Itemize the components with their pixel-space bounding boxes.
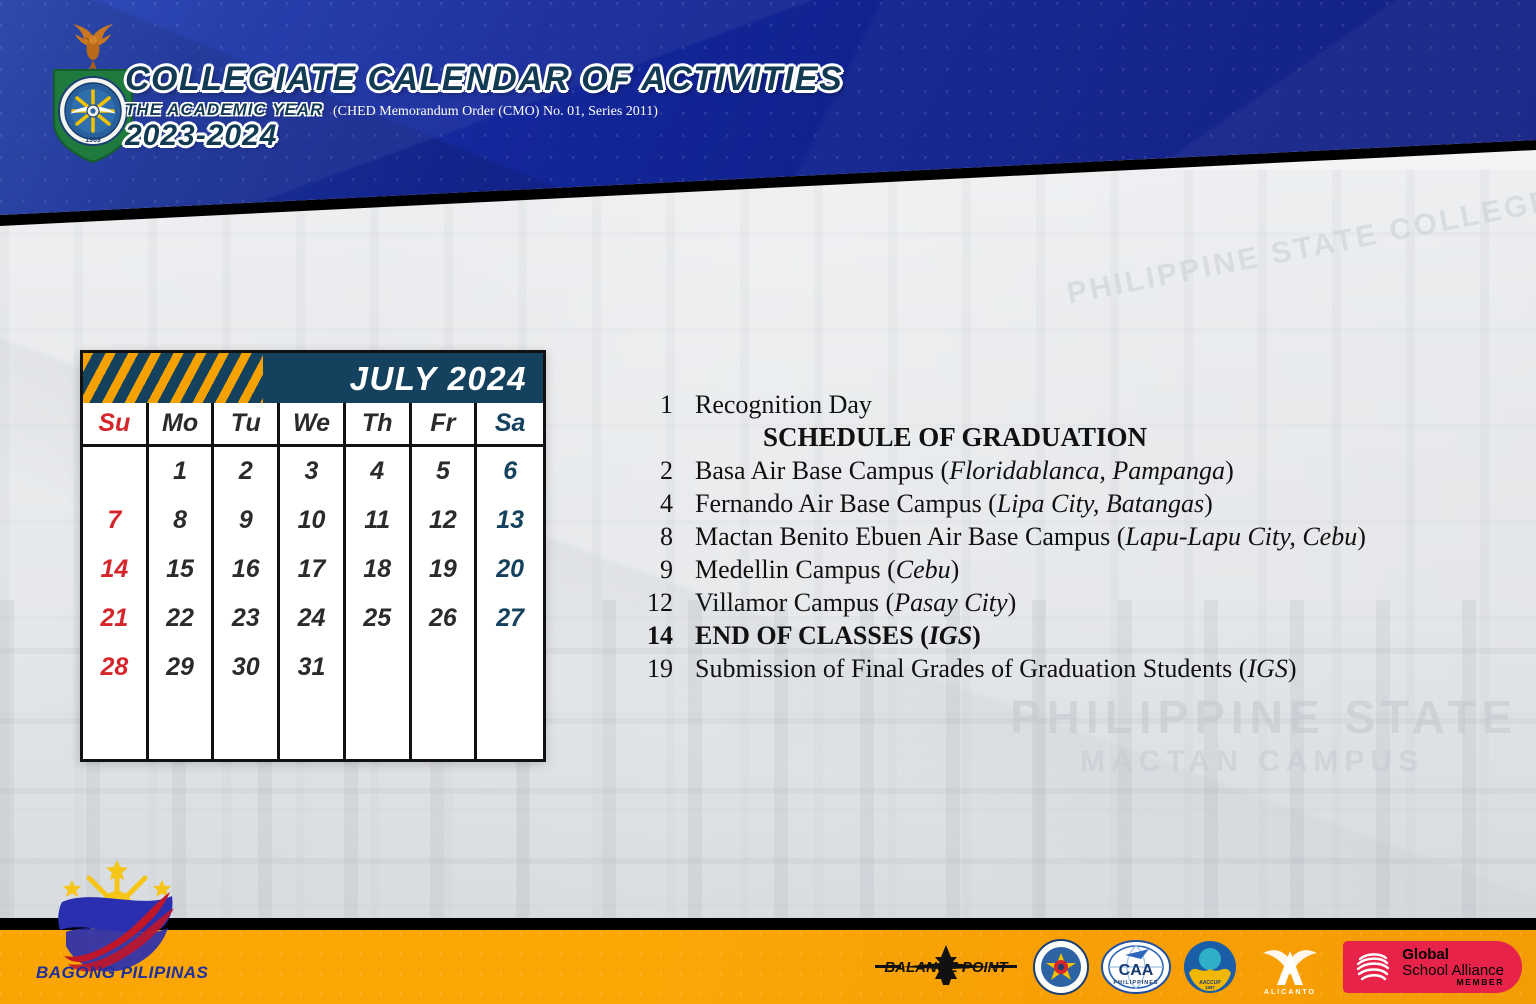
day-header-sa: Sa: [477, 403, 543, 447]
psca-seal-logo[interactable]: [1033, 939, 1089, 995]
event-text: Recognition Day: [695, 388, 1495, 421]
date-cell[interactable]: 31: [280, 643, 343, 692]
date-cell[interactable]: [477, 643, 543, 692]
date-cell[interactable]: 3: [280, 447, 343, 496]
balance-point-logo[interactable]: BALANCE POINT: [871, 939, 1021, 995]
date-cell[interactable]: 24: [280, 594, 343, 643]
caa-philippines-logo[interactable]: CAA PHILIPPINES: [1101, 939, 1171, 995]
aaccup-logo[interactable]: AACCUP 1987: [1183, 939, 1237, 995]
event-row: 9 Medellin Campus (Cebu): [575, 553, 1495, 586]
svg-text:1987: 1987: [1205, 985, 1215, 990]
watermark-college: PHILIPPINE STATE COLLEGE: [1010, 690, 1536, 744]
date-cell[interactable]: [346, 643, 409, 692]
event-row: 2 Basa Air Base Campus (Floridablanca, P…: [575, 454, 1495, 487]
event-row: 12 Villamor Campus (Pasay City): [575, 586, 1495, 619]
eagle-icon: [73, 24, 113, 70]
footer-logo-strip: BALANCE POINT CAA PHILIPPINES: [871, 930, 1522, 1004]
footer-divider: [0, 918, 1536, 930]
date-cell[interactable]: 28: [83, 643, 146, 692]
date-cell[interactable]: 5: [412, 447, 475, 496]
event-text: Mactan Benito Ebuen Air Base Campus (Lap…: [695, 520, 1495, 553]
calendar-column-wednesday: We 3 10 17 24 31: [280, 403, 346, 759]
date-cell[interactable]: [412, 643, 475, 692]
date-cell[interactable]: 2: [214, 447, 277, 496]
date-cell[interactable]: 25: [346, 594, 409, 643]
calendar-grid: Su 7 14 21 28 Mo 1 8 15 22 29 Tu 2 9 16 …: [83, 403, 543, 759]
globe-swirl-icon: [1353, 947, 1393, 987]
date-cell[interactable]: 19: [412, 545, 475, 594]
date-cell[interactable]: 27: [477, 594, 543, 643]
event-day: 4: [575, 487, 695, 520]
date-cell[interactable]: 12: [412, 496, 475, 545]
date-cell[interactable]: 9: [214, 496, 277, 545]
event-text: END OF CLASSES (IGS): [695, 619, 1495, 652]
schedule-of-graduation-heading: SCHEDULE OF GRADUATION: [575, 421, 1495, 454]
event-day: 9: [575, 553, 695, 586]
event-text: Basa Air Base Campus (Floridablanca, Pam…: [695, 454, 1495, 487]
calendar-month-title: JULY 2024: [350, 362, 543, 395]
event-row: 14 END OF CLASSES (IGS): [575, 619, 1495, 652]
date-cell[interactable]: 20: [477, 545, 543, 594]
bagong-pilipinas-label: BAGONG PILIPINAS: [36, 963, 208, 983]
event-day: 2: [575, 454, 695, 487]
day-header-mo: Mo: [149, 403, 212, 447]
event-text: Villamor Campus (Pasay City): [695, 586, 1495, 619]
day-header-su: Su: [83, 403, 146, 447]
watermark-mactan-campus: MACTAN CAMPUS: [1080, 745, 1424, 779]
calendar-column-monday: Mo 1 8 15 22 29: [149, 403, 215, 759]
calendar-page: PHILIPPINE STATE COLLEGE OF AERONAUTICS …: [0, 0, 1536, 1004]
date-cell[interactable]: 1: [149, 447, 212, 496]
event-row: 19 Submission of Final Grades of Graduat…: [575, 652, 1495, 685]
calendar-column-tuesday: Tu 2 9 16 23 30: [214, 403, 280, 759]
calendar-column-friday: Fr 5 12 19 26: [412, 403, 478, 759]
date-cell[interactable]: 14: [83, 545, 146, 594]
event-text: Medellin Campus (Cebu): [695, 553, 1495, 586]
event-day: 1: [575, 388, 695, 421]
date-cell[interactable]: 4: [346, 447, 409, 496]
event-row: 4 Fernando Air Base Campus (Lipa City, B…: [575, 487, 1495, 520]
day-header-fr: Fr: [412, 403, 475, 447]
page-title: COLLEGIATE CALENDAR OF ACTIVITIES: [125, 62, 843, 96]
event-day: 19: [575, 652, 695, 685]
event-row: 8 Mactan Benito Ebuen Air Base Campus (L…: [575, 520, 1495, 553]
gsa-line-3: MEMBER: [1402, 978, 1504, 987]
date-cell[interactable]: 8: [149, 496, 212, 545]
svg-text:PHILIPPINES: PHILIPPINES: [1114, 980, 1159, 986]
calendar-title-bar: JULY 2024: [83, 353, 543, 403]
date-cell[interactable]: 21: [83, 594, 146, 643]
day-header-tu: Tu: [214, 403, 277, 447]
calendar-column-saturday: Sa 6 13 20 27: [477, 403, 543, 759]
gsa-line-1: Global: [1402, 947, 1504, 962]
day-header-th: Th: [346, 403, 409, 447]
event-day: 14: [575, 619, 695, 652]
day-header-we: We: [280, 403, 343, 447]
event-row: 1 Recognition Day: [575, 388, 1495, 421]
gsa-line-2: School Alliance: [1402, 963, 1504, 978]
event-text: Fernando Air Base Campus (Lipa City, Bat…: [695, 487, 1495, 520]
calendar-column-sunday: Su 7 14 21 28: [83, 403, 149, 759]
date-cell[interactable]: 17: [280, 545, 343, 594]
event-day: 8: [575, 520, 695, 553]
academic-year-value: 2023-2024: [125, 121, 843, 151]
date-cell[interactable]: 23: [214, 594, 277, 643]
page-footer: BALANCE POINT CAA PHILIPPINES: [0, 930, 1536, 1004]
date-cell[interactable]: 13: [477, 496, 543, 545]
date-cell[interactable]: 6: [477, 447, 543, 496]
alicanto-logo[interactable]: ALICANTO: [1249, 937, 1331, 997]
date-cell[interactable]: 29: [149, 643, 212, 692]
cmo-reference-note: (CHED Memorandum Order (CMO) No. 01, Ser…: [333, 104, 658, 120]
diagonal-stripes-decor: [83, 353, 263, 403]
gsa-text-block: Global School Alliance MEMBER: [1402, 947, 1504, 986]
events-list: 1 Recognition Day SCHEDULE OF GRADUATION…: [575, 388, 1495, 685]
date-cell[interactable]: [83, 447, 146, 496]
date-cell[interactable]: 10: [280, 496, 343, 545]
svg-text:1969: 1969: [85, 137, 101, 144]
event-day: 12: [575, 586, 695, 619]
svg-text:ALICANTO: ALICANTO: [1264, 989, 1316, 996]
calendar-column-thursday: Th 4 11 18 25: [346, 403, 412, 759]
date-cell[interactable]: 22: [149, 594, 212, 643]
date-cell[interactable]: 15: [149, 545, 212, 594]
date-cell[interactable]: 11: [346, 496, 409, 545]
event-text: Submission of Final Grades of Graduation…: [695, 652, 1495, 685]
date-cell[interactable]: 16: [214, 545, 277, 594]
date-cell[interactable]: 26: [412, 594, 475, 643]
global-school-alliance-logo[interactable]: Global School Alliance MEMBER: [1343, 941, 1522, 993]
date-cell[interactable]: 18: [346, 545, 409, 594]
date-cell[interactable]: 30: [214, 643, 277, 692]
date-cell[interactable]: 7: [83, 496, 146, 545]
svg-text:BALANCE POINT: BALANCE POINT: [885, 959, 1010, 976]
calendar-card: JULY 2024 Su 7 14 21 28 Mo 1 8 15 22 29 …: [80, 350, 546, 762]
ribbon-sphere-icon: [58, 892, 174, 972]
svg-text:CAA: CAA: [1119, 962, 1154, 979]
